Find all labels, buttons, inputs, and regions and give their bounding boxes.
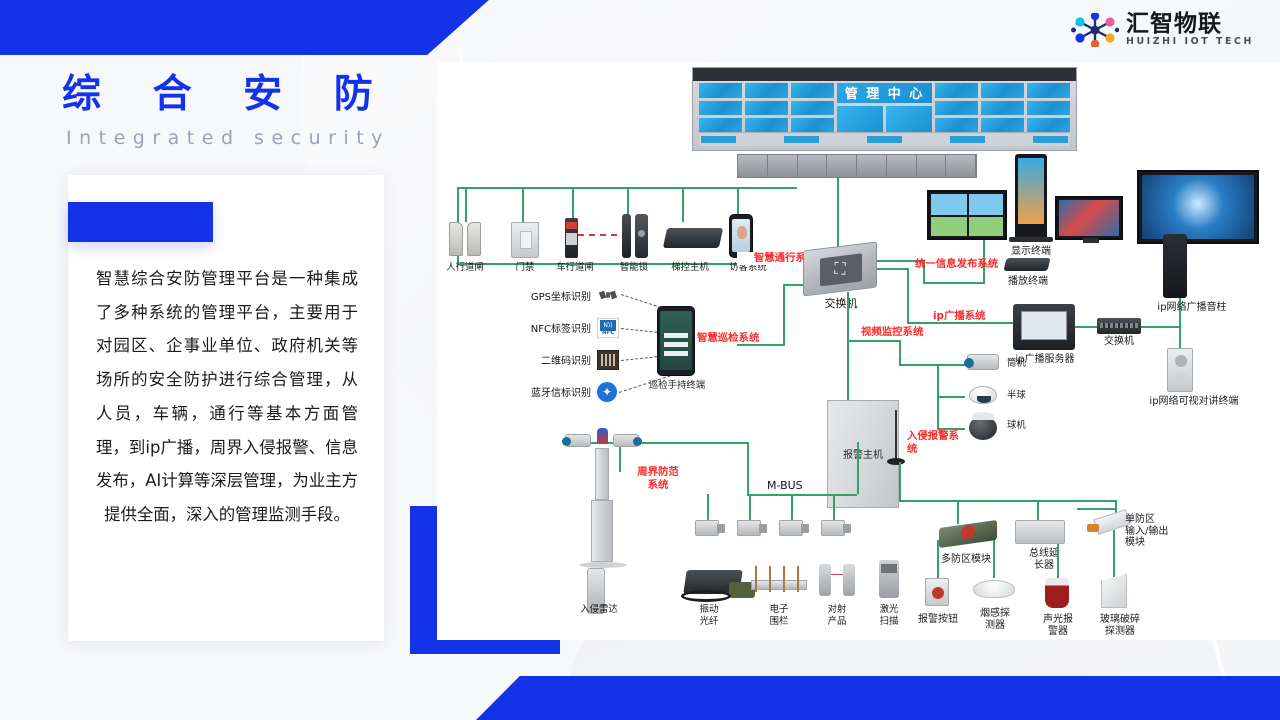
- drop-multi-zone-module: [957, 500, 959, 524]
- perimeter-pole-upper-icon: [595, 448, 609, 500]
- ip-broadcast-server-icon: [1013, 304, 1075, 350]
- alarm-host-icon: 报警主机: [827, 400, 899, 508]
- description-card-chip: [68, 202, 213, 242]
- label-alarm-host: 报警主机: [828, 446, 898, 461]
- video-wall-header-strip: [693, 68, 1076, 81]
- link-extender-to-io: [1077, 508, 1115, 510]
- link-switch-down: [847, 292, 849, 340]
- bus-extender-icon: [1015, 520, 1065, 544]
- perimeter-camera-right-icon: [613, 434, 639, 447]
- door-access-icon: [511, 222, 539, 258]
- label-alarm-button: 报警按钮: [907, 614, 969, 626]
- label-nfc-recognition: NFC标签识别: [505, 324, 591, 336]
- label-dome-camera: 半球: [1007, 390, 1047, 402]
- label-vehicle-barrier: 车行道闸: [547, 262, 603, 274]
- label-video-surveillance-system: 视频监控系统: [861, 326, 957, 339]
- large-led-display-icon: [1137, 170, 1259, 244]
- gps-satellite-icon: [597, 286, 619, 304]
- link-down-to-alarm: [847, 340, 849, 400]
- link-info-bus: [923, 282, 983, 284]
- drop-bus-extender: [1037, 500, 1039, 522]
- vehicle-barrier-icon: [565, 218, 578, 258]
- label-sound-light-siren: 声光报 警器: [1029, 614, 1087, 637]
- drop-vibration-fiber: [707, 494, 709, 520]
- qrcode-icon: [597, 350, 619, 370]
- label-laser-scan: 激光 扫描: [867, 604, 911, 627]
- control-room-desk: [737, 154, 977, 178]
- label-ptz-camera: 球机: [1007, 420, 1047, 432]
- bullet-camera-icon: [967, 354, 999, 370]
- label-ip-switch: 交换机: [1093, 336, 1145, 348]
- architecture-diagram: 管 理 中 心: [437, 62, 1280, 640]
- patrol-handheld-terminal-icon: [657, 306, 695, 376]
- link-perimeter-to-mbus: [747, 494, 857, 496]
- label-glass-break-detector: 玻璃破碎 探测器: [1087, 614, 1153, 637]
- ip-intercom-terminal-icon: [1167, 348, 1193, 392]
- description-text: 智慧综合安防管理平台是一种集成了多种系统的管理平台，主要用于对园区、企事业单位、…: [96, 262, 358, 532]
- bottom-blue-bar: [470, 676, 1280, 720]
- molecule-network-icon: [1071, 13, 1119, 47]
- perimeter-sensor-2-icon: [737, 520, 761, 536]
- drop-laser-scan: [833, 494, 835, 520]
- dome-camera-icon: [969, 386, 997, 404]
- perimeter-sensor-4-icon: [821, 520, 845, 536]
- link-patrol-to-switch: [783, 284, 803, 286]
- link-server-to-switch2: [1075, 326, 1097, 328]
- link-switch2-to-speaker: [1141, 326, 1179, 328]
- brand-name-en: HUIZHI IOT TECH: [1126, 36, 1254, 47]
- link-patrol-to-vertical: [737, 344, 783, 346]
- perimeter-camera-left-icon: [565, 434, 591, 447]
- switch-glyph-icon: ⛶: [834, 259, 845, 279]
- control-room-video-wall: 管 理 中 心: [692, 67, 1077, 151]
- drop-pedestrian-gate: [465, 187, 467, 222]
- drop-sound-light-siren: [1057, 544, 1059, 578]
- label-ip-intercom-terminal: ip网络可视对讲终端: [1109, 396, 1279, 408]
- smart-lock-icon: [622, 214, 631, 258]
- label-smart-lock: 智能锁: [607, 262, 661, 274]
- label-patrol-terminal: 巡检手持终端: [635, 380, 719, 392]
- fiber-loop-icon: [681, 590, 731, 602]
- label-smart-patrol-system: 智慧巡检系统: [697, 332, 777, 345]
- label-bus-extender: 总线延 长器: [1017, 548, 1071, 571]
- drop-alarm-button: [937, 540, 939, 578]
- link-alarm-modules-bus: [899, 500, 1115, 502]
- pedestrian-gate-icon: [449, 222, 463, 256]
- label-gps-recognition: GPS坐标识别: [505, 292, 591, 304]
- smart-lock-panel-icon: [635, 214, 648, 258]
- beam-ray-icon: [831, 574, 843, 575]
- alarm-button-icon: [925, 578, 949, 606]
- io-module-connector-icon: [1087, 524, 1099, 532]
- beam-receiver-icon: [843, 564, 855, 596]
- electronic-fence-icon: [751, 566, 807, 594]
- label-door-access: 门禁: [499, 262, 551, 274]
- drop-door-access: [522, 187, 524, 222]
- label-vibration-fiber: 振动 光纤: [685, 604, 733, 627]
- multi-zone-module-icon: [939, 520, 997, 548]
- label-core-switch: 交换机: [805, 298, 877, 310]
- link-alarm-host-right-down: [899, 462, 901, 500]
- label-smoke-detector: 烟感探 测器: [967, 608, 1023, 631]
- link-camera-bullet: [937, 364, 965, 366]
- brand-name-cn: 汇智物联: [1126, 12, 1254, 36]
- label-multi-zone-module: 多防区模块: [923, 554, 1009, 566]
- brand-logo: 汇智物联 HUIZHI IOT TECH: [1071, 12, 1254, 47]
- link-ipb-vertical: [907, 268, 909, 322]
- nfc-tag-icon: N)) NFC: [597, 318, 619, 338]
- label-m-bus: M-BUS: [767, 480, 827, 492]
- label-electronic-fence: 电子 围栏: [755, 604, 803, 627]
- pedestrian-gate-icon-2: [467, 222, 481, 256]
- smoke-detector-icon: [973, 580, 1015, 598]
- page-title-cn: 综 合 安 防: [62, 63, 392, 119]
- alarm-antenna-icon: [895, 410, 897, 460]
- drop-electronic-fence: [749, 494, 751, 520]
- laser-scanner-icon: [879, 560, 899, 598]
- video-wall-grid: 管 理 中 心: [699, 83, 1070, 133]
- drop-beam-product: [791, 494, 793, 520]
- label-display-terminal: 显示终端: [995, 246, 1067, 258]
- link-switch-to-ipb-stub: [877, 268, 907, 270]
- perimeter-pole-lower-icon: [591, 500, 613, 562]
- slide-root: 汇智物联 HUIZHI IOT TECH 综 合 安 防 Integrated …: [0, 0, 1280, 720]
- link-video-vertical: [899, 340, 901, 364]
- perimeter-pole-base-icon: [579, 562, 627, 568]
- link-intercom-vertical: [1179, 326, 1181, 348]
- beam-transmitter-icon: [819, 564, 831, 596]
- drop-elevator: [682, 187, 684, 222]
- perimeter-sensor-1-icon: [695, 520, 719, 536]
- label-ip-broadcast-server: ip广播服务器: [1005, 354, 1085, 366]
- label-pedestrian-gate: 人行道闸: [437, 262, 493, 274]
- elevator-controller-icon: [663, 228, 723, 248]
- perimeter-sensor-3-icon: [779, 520, 803, 536]
- link-camera-dome: [937, 396, 965, 398]
- label-qrcode-recognition: 二维码识别: [505, 356, 591, 368]
- sound-light-siren-icon: [1045, 578, 1069, 608]
- ip-switch-icon: [1097, 318, 1141, 334]
- digital-signage-kiosk-icon: [1015, 154, 1047, 242]
- label-intrusion-radar: 入侵雷达: [567, 604, 631, 616]
- alarm-antenna-base-icon: [887, 458, 905, 465]
- play-terminal-icon: [1003, 258, 1050, 271]
- page-title-en: Integrated security: [66, 127, 390, 149]
- video-wall-display-icon: [927, 190, 1007, 240]
- label-elevator-controller: 梯控主机: [661, 262, 719, 274]
- drop-glass-break-detector: [1113, 530, 1115, 578]
- glass-break-detector-icon: [1101, 574, 1127, 608]
- top-left-blue-banner: [0, 0, 500, 55]
- label-perimeter-defense-system: 周界防范 系统: [623, 466, 693, 491]
- link-alarm-host-to-mbus: [857, 442, 859, 494]
- bluetooth-beacon-icon: ✦: [597, 382, 617, 402]
- drop-smoke-detector: [993, 540, 995, 578]
- ip-speaker-column-icon: [1163, 234, 1187, 298]
- label-beam-product: 对射 产品: [815, 604, 859, 627]
- link-video-cameras: [899, 364, 937, 366]
- link-perimeter-trunk-down: [747, 442, 749, 494]
- label-intrusion-alarm-system: 入侵报警系 统: [907, 430, 969, 455]
- barrier-arm-icon: [578, 234, 626, 236]
- ptz-camera-icon: [969, 416, 997, 440]
- label-bluetooth-beacon: 蓝牙信标识别: [497, 388, 591, 400]
- video-wall-base-row: [699, 132, 1070, 146]
- link-video-horizontal: [847, 340, 899, 342]
- perimeter-strobe-icon: [597, 428, 608, 444]
- label-play-terminal: 播放终端: [993, 276, 1063, 288]
- link-patrol-vertical: [783, 284, 785, 346]
- label-single-zone-io-module: 单防区 输入/输出 模块: [1125, 514, 1203, 549]
- label-ip-speaker-column: ip网络广播音柱: [1127, 302, 1257, 314]
- drop-vehicle-barrier: [572, 187, 574, 222]
- video-wall-title: 管 理 中 心: [837, 83, 932, 103]
- tv-display-icon: [1055, 196, 1123, 240]
